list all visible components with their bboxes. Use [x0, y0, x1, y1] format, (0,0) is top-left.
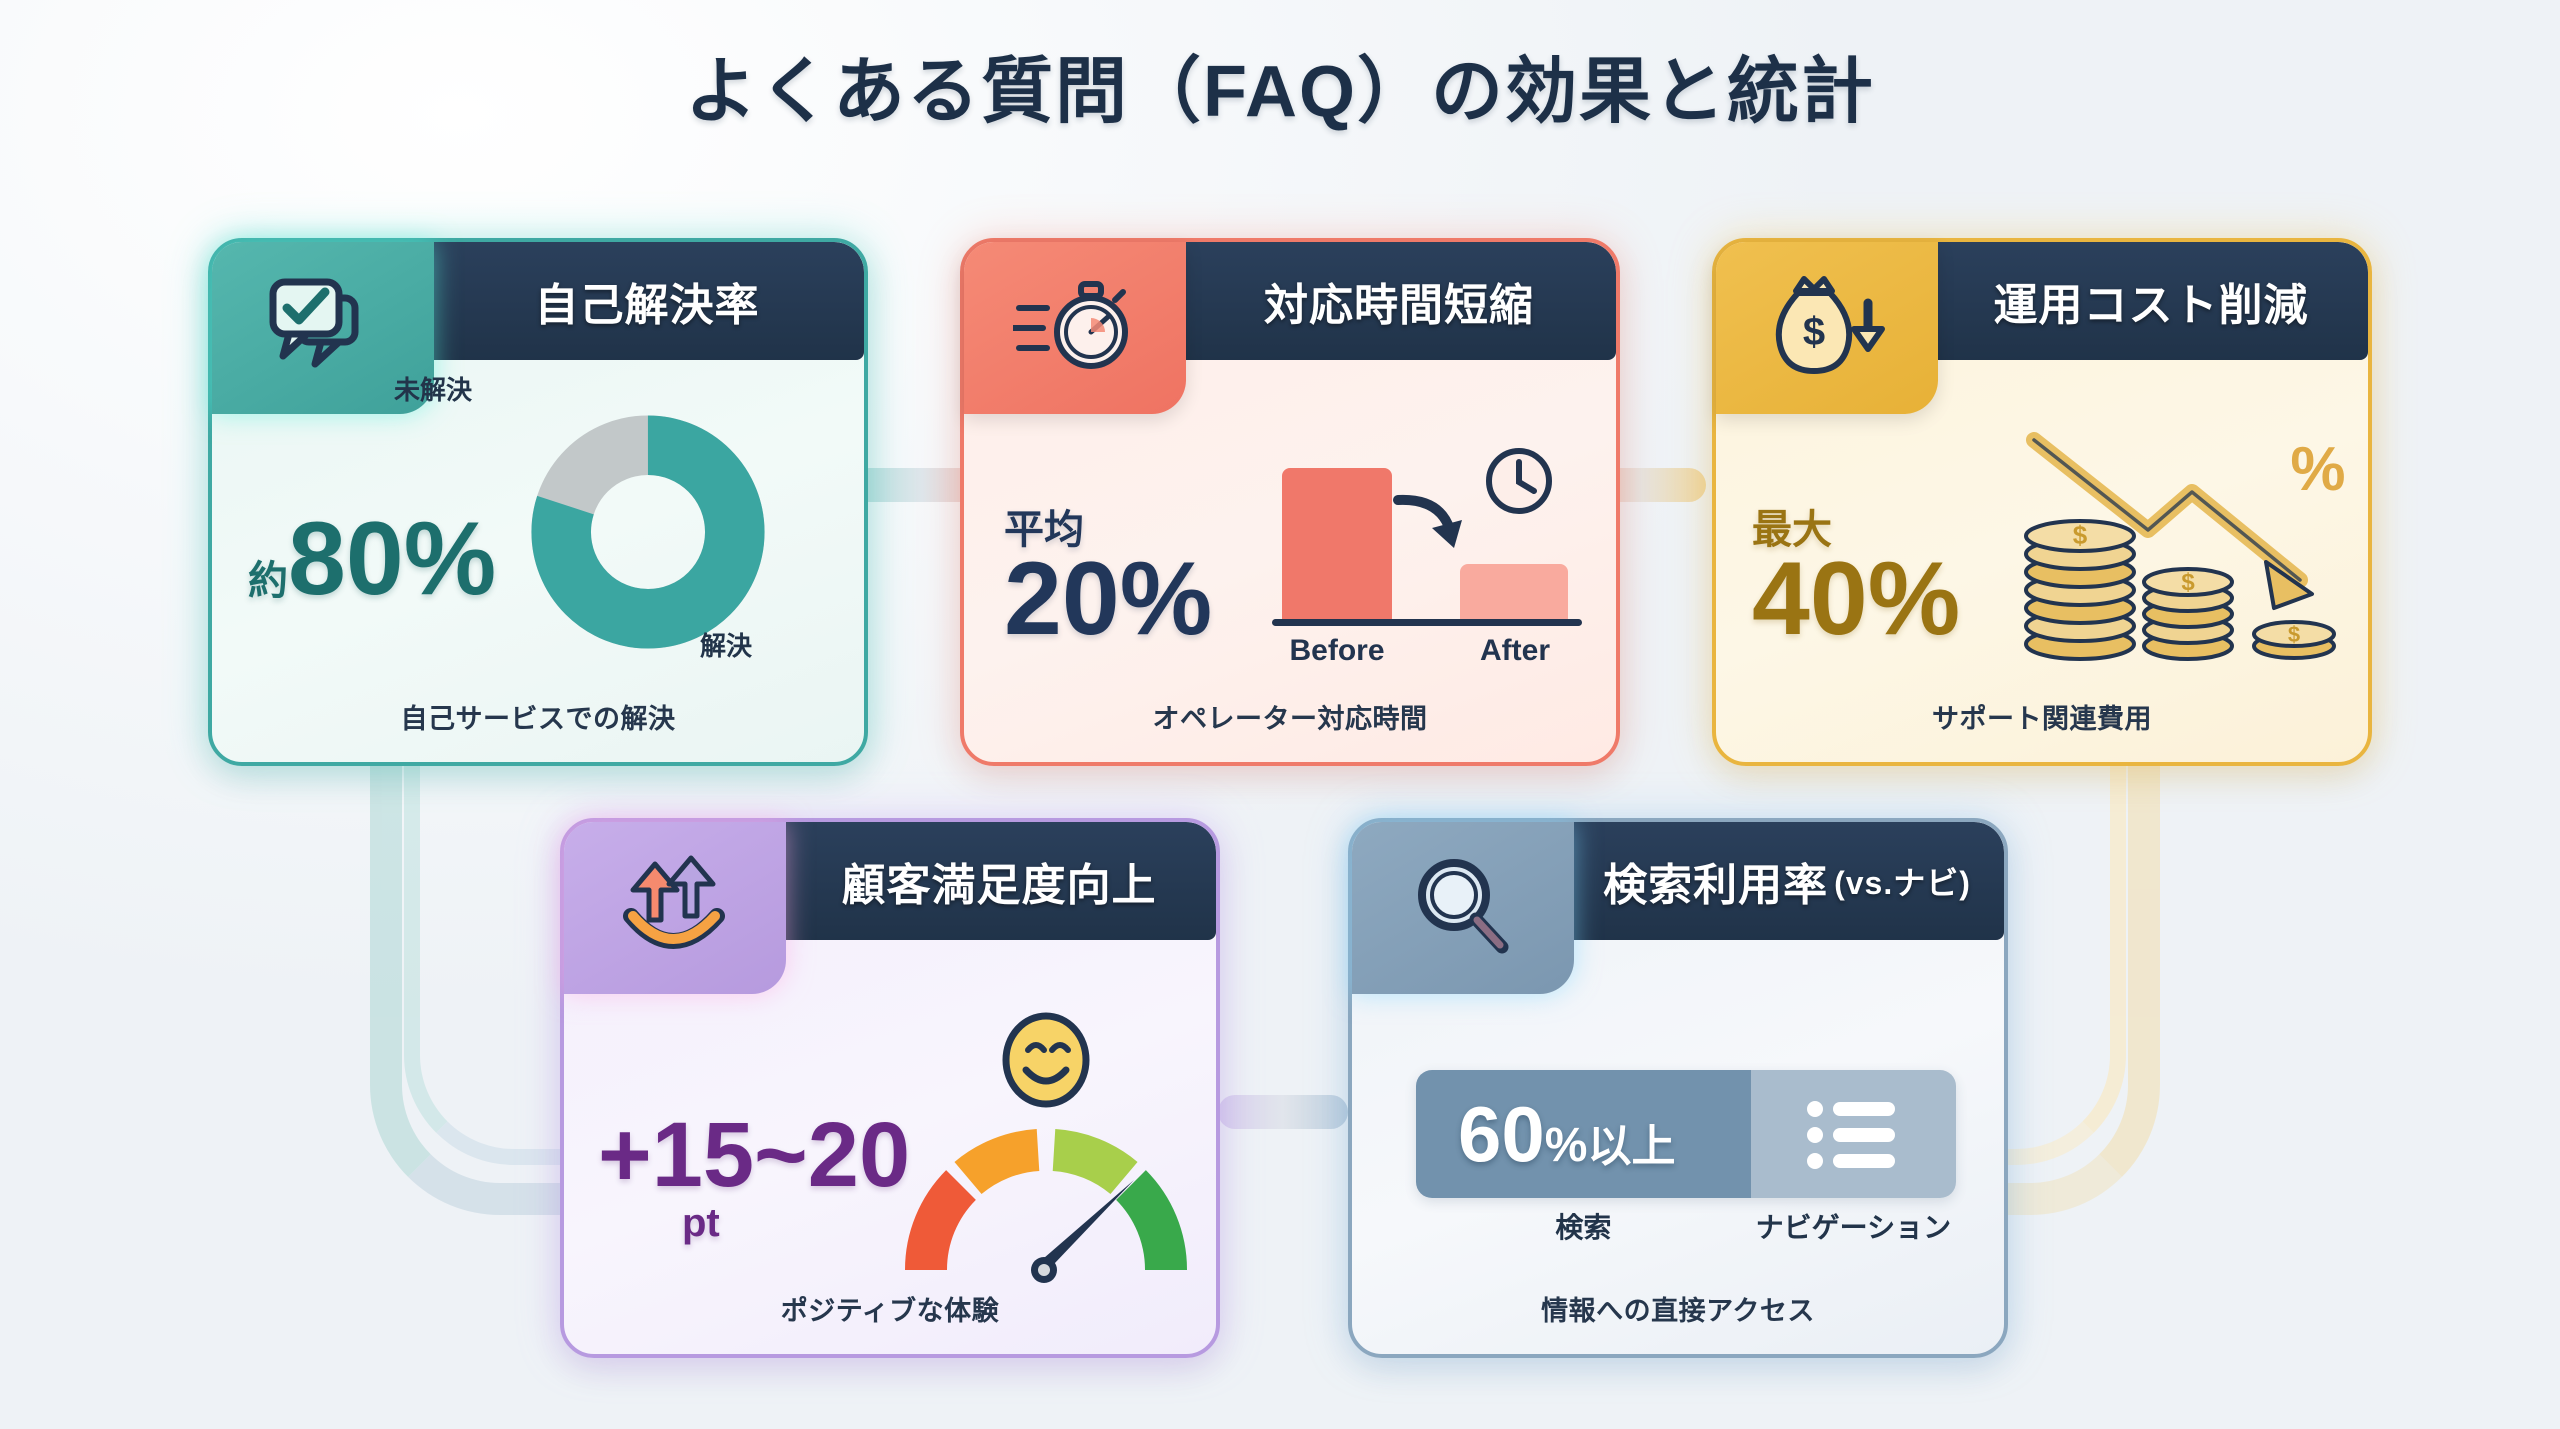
search-unit: %	[1545, 1119, 1588, 1172]
card-title-suffix: (vs.ナビ)	[1834, 858, 1971, 904]
bullet-list-icon	[1805, 1097, 1901, 1171]
card-customer-satisfaction[interactable]: 顧客満足度向上 ポジティブな体験 +15~20 pt	[560, 818, 1220, 1358]
svg-text:$: $	[2288, 622, 2300, 647]
metric-value: +15~20	[598, 1112, 910, 1199]
search-value: 60	[1458, 1090, 1545, 1178]
metric-block: 約80%	[248, 510, 496, 609]
chat-bubble-check-icon	[263, 276, 383, 380]
metric-block: +15~20 pt	[598, 1112, 910, 1243]
card-title: 顧客満足度向上	[782, 822, 1216, 940]
satisfaction-gauge	[886, 1012, 1206, 1312]
metric-prefix: 約	[248, 559, 288, 603]
label-navigation: ナビゲーション	[1751, 1206, 1956, 1246]
card-icon-badge	[1352, 822, 1574, 994]
metric-unit: %	[1868, 541, 1960, 657]
card-icon-badge	[564, 822, 786, 994]
infographic-canvas: よくある質問（FAQ）の効果と統計 自己解決率 自己サービスでの解決 約80%	[0, 0, 2560, 1429]
coin-single: $	[2254, 622, 2334, 658]
coin-stack-tall: $	[2026, 520, 2134, 659]
svg-text:$: $	[2073, 520, 2088, 550]
cost-reduction-illustration: % $	[2016, 412, 2366, 672]
card-icon-badge	[964, 242, 1186, 414]
gauge-seg-4	[1131, 1185, 1166, 1270]
smile-up-arrows-icon	[611, 854, 739, 962]
search-value-suffix: 以上	[1587, 1122, 1675, 1171]
metric-block: 最大 40%	[1752, 510, 1960, 649]
bar-segment-navigation	[1751, 1070, 1956, 1198]
card-footer: サポート関連費用	[1716, 697, 2368, 736]
card-icon-badge: $	[1716, 242, 1938, 414]
connector-card4-card5	[1218, 1095, 1348, 1129]
before-after-bar-chart: Before After	[1264, 456, 1594, 666]
card-search-usage[interactable]: 検索利用率 (vs.ナビ) 情報への直接アクセス 60%以上	[1348, 818, 2008, 1358]
card-title: 運用コスト削減	[1934, 242, 2368, 360]
card-self-resolution[interactable]: 自己解決率 自己サービスでの解決 約80% 未解決 解決	[208, 238, 868, 766]
metric-value: 80	[288, 501, 404, 617]
smiley-face-icon	[1006, 1016, 1086, 1104]
metric-unit: %	[1120, 541, 1212, 657]
svg-text:$: $	[2181, 569, 2195, 596]
card-operating-cost[interactable]: 運用コスト削減 サポート関連費用 $ 最大 40% %	[1712, 238, 2372, 766]
metric-value: 40	[1752, 541, 1868, 657]
search-value-label: 60%以上	[1458, 1095, 1675, 1173]
clock-icon	[1480, 442, 1558, 520]
card-footer: 自己サービスでの解決	[212, 697, 864, 736]
stopwatch-icon	[1013, 274, 1137, 382]
card-footer: オペレーター対応時間	[964, 697, 1616, 736]
search-vs-nav-labels: 検索 ナビゲーション	[1416, 1206, 1956, 1246]
gauge-svg	[886, 1012, 1206, 1312]
bar-segment-search: 60%以上	[1416, 1070, 1751, 1198]
metric-block: 平均 20%	[1004, 510, 1212, 649]
page-title: よくある質問（FAQ）の効果と統計	[0, 32, 2560, 137]
donut-label-unresolved: 未解決	[394, 370, 472, 407]
gauge-seg-2	[968, 1150, 1038, 1178]
bar-label-before: Before	[1264, 634, 1410, 668]
coins-declining-arrow: % $	[2016, 412, 2366, 672]
card-title: 対応時間短縮	[1182, 242, 1616, 360]
card-title: 検索利用率 (vs.ナビ)	[1570, 822, 2004, 940]
metric-unit: %	[404, 501, 496, 617]
money-bag-down-arrow-icon: $	[1762, 273, 1892, 383]
donut-chart: 未解決 解決	[524, 408, 772, 656]
metric-value: 20	[1004, 541, 1120, 657]
donut-svg	[524, 408, 772, 656]
svg-text:$: $	[1803, 310, 1825, 354]
percent-glyph: %	[2290, 435, 2345, 504]
card-title: 自己解決率	[430, 242, 864, 360]
label-search: 検索	[1416, 1206, 1751, 1246]
baseline	[1272, 619, 1582, 626]
card-footer: 情報への直接アクセス	[1352, 1289, 2004, 1328]
search-vs-nav-bar: 60%以上	[1416, 1070, 1956, 1198]
donut-label-resolved: 解決	[700, 626, 752, 663]
curved-down-arrow-icon	[1392, 492, 1474, 558]
gauge-needle	[1031, 1180, 1134, 1283]
coin-stack-medium: $	[2144, 569, 2232, 659]
gauge-seg-3	[1054, 1150, 1124, 1178]
card-title-main: 検索利用率	[1603, 849, 1828, 913]
gauge-seg-1	[926, 1185, 961, 1270]
bar-after	[1460, 564, 1568, 620]
card-handling-time[interactable]: 対応時間短縮 オペレーター対応時間 平均 20%	[960, 238, 1620, 766]
bar-label-after: After	[1442, 634, 1588, 668]
magnifier-icon	[1408, 853, 1518, 963]
metric-unit: pt	[682, 1203, 910, 1243]
bar-before	[1282, 468, 1392, 620]
